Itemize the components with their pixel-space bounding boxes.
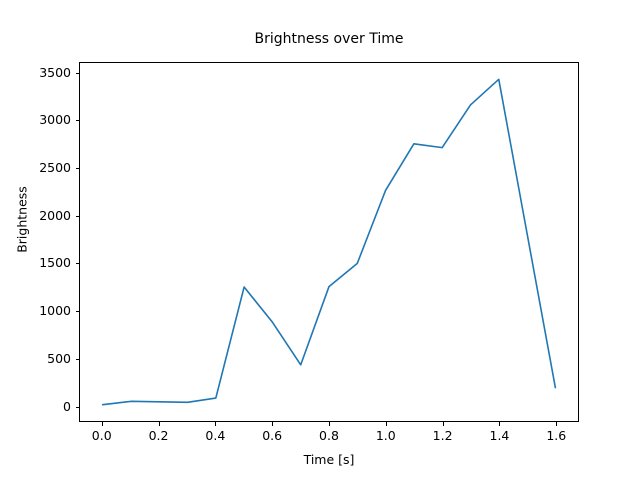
x-tick-mark — [386, 422, 387, 426]
x-tick-label: 1.0 — [361, 428, 411, 443]
y-tick-mark — [76, 359, 80, 360]
x-tick-label: 0.2 — [134, 428, 184, 443]
x-tick-label: 1.2 — [418, 428, 468, 443]
y-tick-label: 500 — [11, 351, 71, 366]
x-tick-mark — [499, 422, 500, 426]
line-series-brightness — [80, 63, 578, 421]
x-tick-mark — [272, 422, 273, 426]
x-tick-label: 0.4 — [190, 428, 240, 443]
x-axis-label: Time [s] — [79, 452, 579, 467]
y-tick-mark — [76, 263, 80, 264]
x-tick-label: 1.4 — [474, 428, 524, 443]
y-tick-label: 3000 — [11, 112, 71, 127]
x-tick-mark — [329, 422, 330, 426]
plot-area — [79, 62, 579, 422]
y-tick-label: 3500 — [11, 65, 71, 80]
x-tick-label: 0.8 — [304, 428, 354, 443]
x-tick-mark — [102, 422, 103, 426]
x-tick-label: 0.0 — [77, 428, 127, 443]
x-tick-mark — [159, 422, 160, 426]
chart-title: Brightness over Time — [79, 30, 579, 48]
y-tick-mark — [76, 120, 80, 121]
y-tick-label: 1000 — [11, 303, 71, 318]
y-tick-mark — [76, 311, 80, 312]
x-tick-mark — [556, 422, 557, 426]
x-tick-label: 1.6 — [531, 428, 581, 443]
y-tick-label: 0 — [11, 399, 71, 414]
y-tick-mark — [76, 407, 80, 408]
x-tick-label: 0.6 — [247, 428, 297, 443]
y-axis-label: Brightness — [15, 160, 30, 280]
x-tick-mark — [215, 422, 216, 426]
y-tick-mark — [76, 168, 80, 169]
brightness-line-path — [103, 79, 556, 404]
x-tick-mark — [443, 422, 444, 426]
y-tick-mark — [76, 73, 80, 74]
matplotlib-figure: Brightness over Time 0500100015002000250… — [0, 0, 640, 480]
y-tick-mark — [76, 216, 80, 217]
